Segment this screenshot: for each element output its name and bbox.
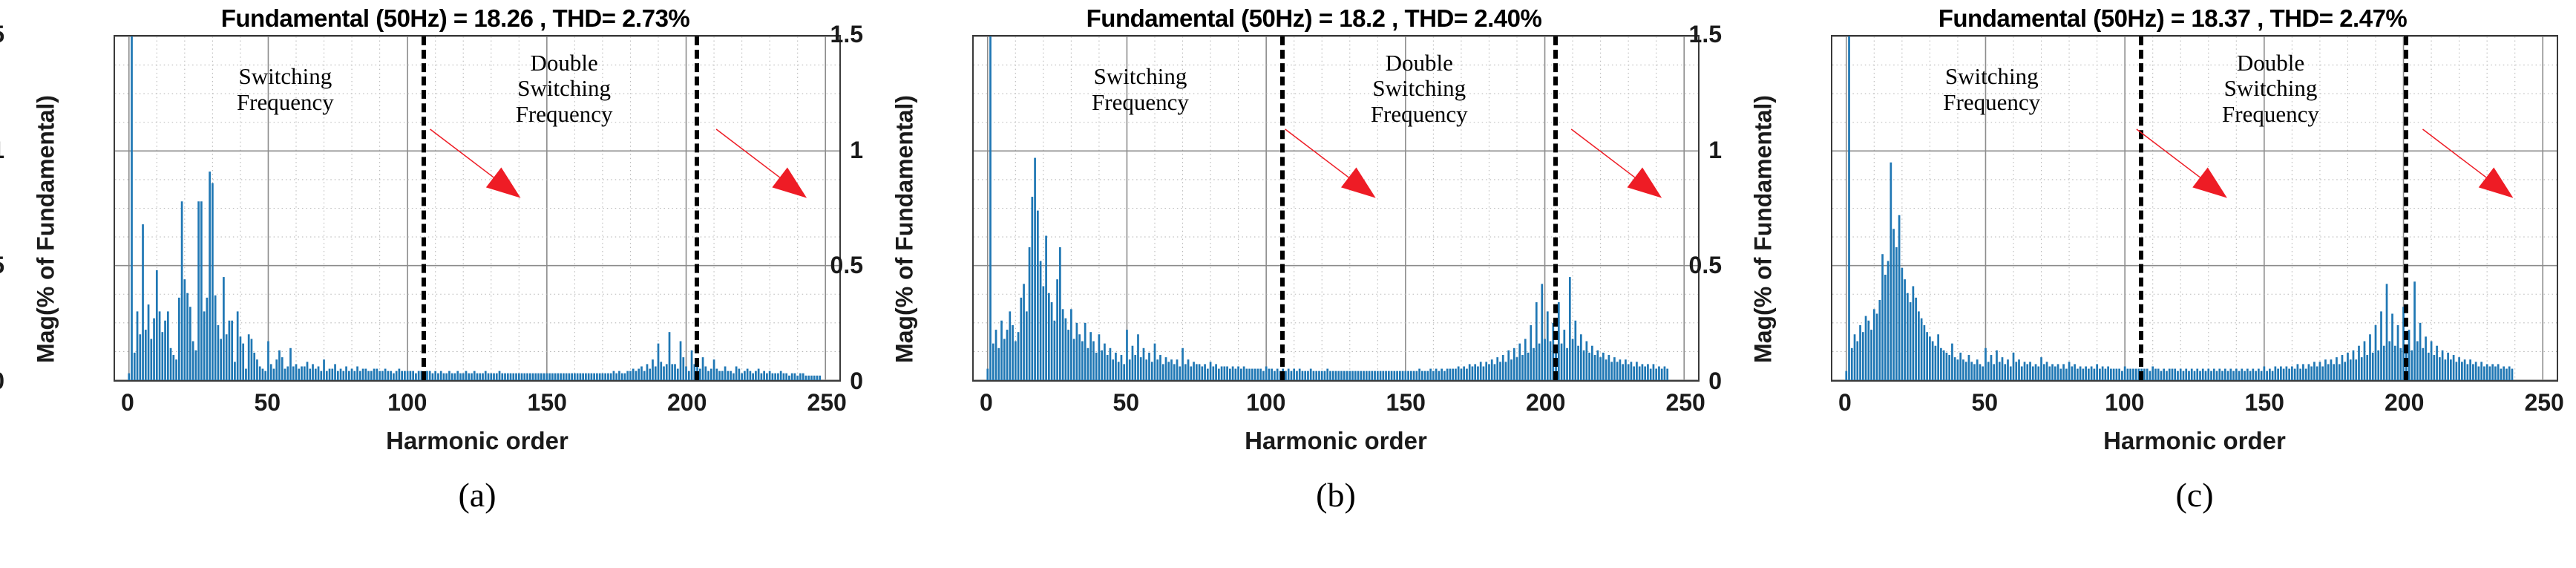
- x-tick-label: 150: [1354, 389, 1458, 417]
- annotation-arrows: [1832, 36, 2557, 380]
- x-tick-label: 200: [1494, 389, 1598, 417]
- y-tick-label: 0.5: [715, 253, 863, 277]
- x-tick-label: 50: [1933, 389, 2036, 417]
- double-switching-frequency-arrow-shaft: [2422, 129, 2486, 177]
- y-tick-label: 1.5: [0, 22, 4, 46]
- plot-title: Fundamental (50Hz) = 18.37 , THD= 2.47%: [1784, 4, 2561, 33]
- switching-frequency-arrow: [2137, 129, 2227, 198]
- figure-root: Fundamental (50Hz) = 18.26 , THD= 2.73%M…: [0, 0, 2576, 568]
- switching-frequency-arrow-head: [2192, 168, 2227, 198]
- y-tick-label: 0: [1573, 369, 1722, 393]
- double-switching-frequency-arrow-head: [2479, 168, 2514, 198]
- chart-panel-b: Fundamental (50Hz) = 18.2 , THD= 2.40%Ma…: [859, 0, 1717, 568]
- x-tick-label: 100: [355, 389, 459, 417]
- y-tick-label: 1: [1573, 138, 1722, 162]
- annotation-arrows: [115, 36, 839, 380]
- x-tick-label: 150: [495, 389, 599, 417]
- x-tick-label: 200: [2353, 389, 2457, 417]
- y-axis-label: Mag(% of Fundamental): [33, 59, 60, 400]
- x-tick-label: 250: [2492, 389, 2576, 417]
- x-axis-label: Harmonic order: [1831, 427, 2558, 455]
- y-tick-label: 0.5: [0, 253, 4, 277]
- switching-frequency-arrow: [1285, 129, 1376, 198]
- switching-frequency-arrow-head: [1341, 168, 1376, 198]
- x-tick-label: 0: [1793, 389, 1897, 417]
- plot-area: Switching FrequencyDouble Switching Freq…: [114, 35, 841, 382]
- y-tick-label: 1.5: [715, 22, 863, 46]
- switching-frequency-arrow-shaft: [2137, 129, 2200, 177]
- plot-area: Switching FrequencyDouble Switching Freq…: [1831, 35, 2558, 382]
- switching-frequency-arrow-shaft: [430, 129, 494, 177]
- x-tick-label: 100: [1214, 389, 1318, 417]
- switching-frequency-arrow-shaft: [1285, 129, 1349, 177]
- x-tick-label: 0: [934, 389, 1038, 417]
- x-tick-label: 50: [215, 389, 319, 417]
- y-tick-label: 0: [715, 369, 863, 393]
- panel-subcaption: (c): [1831, 475, 2558, 515]
- y-tick-label: 0.5: [1573, 253, 1722, 277]
- y-tick-label: 0: [0, 369, 4, 393]
- annotation-arrows: [974, 36, 1698, 380]
- y-tick-label: 1: [0, 138, 4, 162]
- x-tick-label: 0: [76, 389, 180, 417]
- panel-subcaption: (b): [972, 475, 1700, 515]
- x-axis-label: Harmonic order: [972, 427, 1700, 455]
- panel-subcaption: (a): [114, 475, 841, 515]
- x-tick-label: 200: [635, 389, 739, 417]
- x-tick-label: 50: [1074, 389, 1178, 417]
- plot-area: Switching FrequencyDouble Switching Freq…: [972, 35, 1700, 382]
- x-axis-label: Harmonic order: [114, 427, 841, 455]
- y-axis-label: Mag(% of Fundamental): [891, 59, 919, 400]
- x-tick-label: 150: [2212, 389, 2316, 417]
- x-tick-label: 100: [2073, 389, 2177, 417]
- switching-frequency-arrow-head: [486, 168, 521, 198]
- double-switching-frequency-arrow-head: [772, 168, 807, 198]
- chart-panel-a: Fundamental (50Hz) = 18.26 , THD= 2.73%M…: [0, 0, 859, 568]
- y-axis-label: Mag(% of Fundamental): [1750, 59, 1777, 400]
- panel-row: Fundamental (50Hz) = 18.26 , THD= 2.73%M…: [0, 0, 2576, 568]
- double-switching-frequency-arrow: [2422, 129, 2513, 198]
- y-tick-label: 1.5: [1573, 22, 1722, 46]
- chart-panel-c: Fundamental (50Hz) = 18.37 , THD= 2.47%M…: [1717, 0, 2576, 568]
- switching-frequency-arrow: [430, 129, 521, 198]
- double-switching-frequency-arrow-head: [1628, 168, 1662, 198]
- y-tick-label: 1: [715, 138, 863, 162]
